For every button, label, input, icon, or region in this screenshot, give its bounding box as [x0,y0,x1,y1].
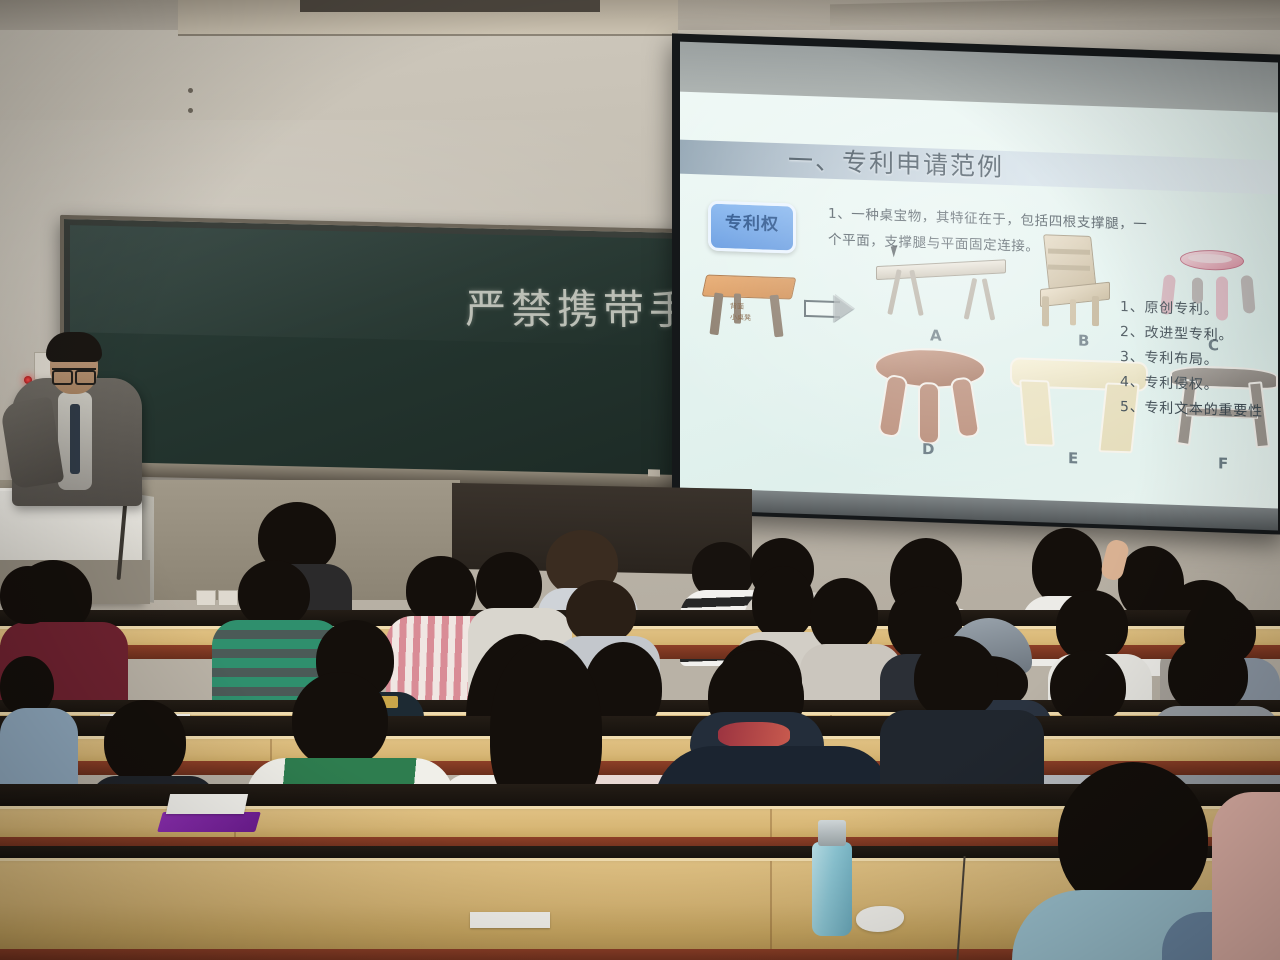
figure-a-bench [876,250,1006,325]
wall-dot-upper [188,88,193,93]
transform-arrow-icon [804,292,860,324]
desk-row-3 [0,736,1280,775]
patent-topic-list: 1、原创专利。 2、改进型专利。 3、专利布局。 4、专利侵权。 5、专利文本的… [1120,295,1263,425]
figure-label-f: F [1218,454,1228,472]
projection-screen: 一、专利申请范例 专利权 1、一种桌宝物，其特征在于，包括四根支撑腿，一个平面，… [672,33,1280,534]
wall-outlet-left[interactable] [196,590,216,606]
lecturer-hair [46,332,102,362]
ceiling-beam-shadow [300,0,600,12]
slide-title: 一、专利申请范例 [788,143,1004,185]
figure-label-e: E [1068,449,1078,467]
figure-label-d: D [922,440,934,458]
patent-right-badge: 专利权 [708,201,796,254]
blackboard: 严禁携带手机等 [60,215,688,487]
figure-d-round-stool [868,346,990,442]
figure-source-stool: 背面小桌凳 [700,274,796,339]
figure-label-a: A [930,326,942,344]
patent-right-badge-label: 专利权 [711,204,793,245]
lecturer-glasses-icon [52,368,96,381]
wall-dot-lower [188,108,193,113]
papers-on-folder[interactable] [166,794,248,814]
paper-front-desk[interactable] [470,912,550,928]
lecturer-tie [70,404,80,474]
water-bottle[interactable] [812,842,852,936]
purple-folder[interactable] [157,812,261,832]
wall-outlet-right[interactable] [218,590,238,606]
slide-content: 一、专利申请范例 专利权 1、一种桌宝物，其特征在于，包括四根支撑腿，一个平面，… [680,92,1278,511]
figure-label-b: B [1078,331,1089,349]
list-item: 5、专利文本的重要性 [1120,395,1263,425]
lecture-hall-photo: 严禁携带手机等 一、专利申请范例 专利权 1、一种桌宝物，其特征在于，包括四根支… [0,0,1280,960]
bottle-cap[interactable] [818,820,846,846]
hood-scarf [718,722,790,748]
figure-b-chair [1030,234,1120,333]
